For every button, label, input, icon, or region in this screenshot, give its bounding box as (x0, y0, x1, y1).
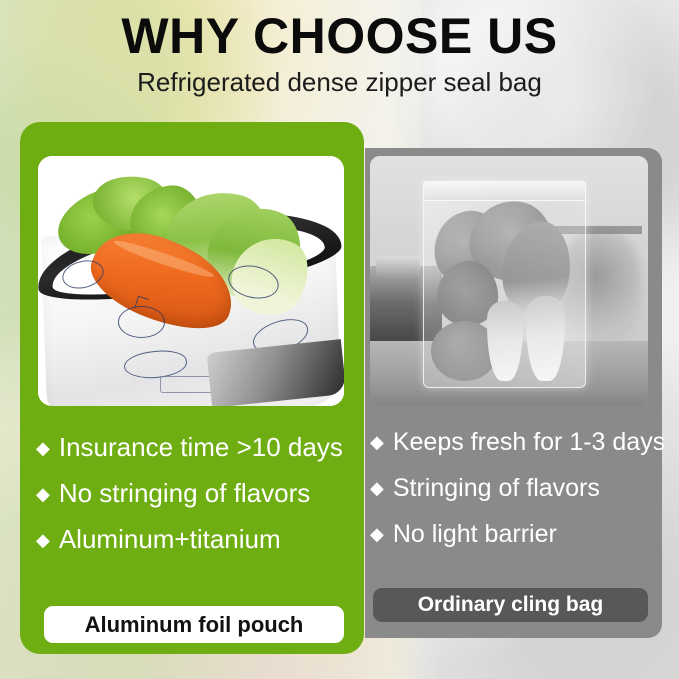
list-item: ◆ Insurance time >10 days (36, 434, 356, 460)
cling-bag-zipper (423, 181, 586, 201)
list-item-label: No light barrier (393, 522, 557, 547)
list-item: ◆ No light barrier (370, 522, 656, 547)
product-photo-aluminum-pouch (38, 156, 344, 406)
vegetable-doodle-tomato (118, 306, 166, 338)
list-item-label: No stringing of flavors (59, 480, 310, 506)
page-title: WHY CHOOSE US (0, 10, 679, 63)
page-subtitle: Refrigerated dense zipper seal bag (0, 67, 679, 98)
kitchen-pot (376, 256, 420, 279)
list-item-label: Stringing of flavors (393, 476, 600, 501)
diamond-bullet-icon: ◆ (370, 433, 384, 451)
list-item-label: Keeps fresh for 1-3 days (393, 430, 665, 455)
diamond-bullet-icon: ◆ (370, 525, 384, 543)
list-item: ◆ No stringing of flavors (36, 480, 356, 506)
diamond-bullet-icon: ◆ (36, 531, 50, 549)
list-item: ◆ Aluminum+titanium (36, 526, 356, 552)
diamond-bullet-icon: ◆ (36, 485, 50, 503)
diamond-bullet-icon: ◆ (370, 479, 384, 497)
feature-list-product: ◆ Insurance time >10 days ◆ No stringing… (36, 434, 356, 572)
feature-list-ordinary: ◆ Keeps fresh for 1-3 days ◆ Stringing o… (370, 430, 656, 568)
label-badge-product: Aluminum foil pouch (44, 606, 344, 643)
comparison-photo-cling-bag (370, 156, 648, 406)
infographic-stage: WHY CHOOSE US Refrigerated dense zipper … (0, 0, 679, 679)
header: WHY CHOOSE US Refrigerated dense zipper … (0, 10, 679, 98)
list-item: ◆ Keeps fresh for 1-3 days (370, 430, 656, 455)
clear-cling-bag (423, 181, 586, 388)
label-badge-ordinary: Ordinary cling bag (373, 588, 648, 622)
list-item-label: Aluminum+titanium (59, 526, 281, 552)
list-item-label: Insurance time >10 days (59, 434, 343, 460)
list-item: ◆ Stringing of flavors (370, 476, 656, 501)
diamond-bullet-icon: ◆ (36, 439, 50, 457)
